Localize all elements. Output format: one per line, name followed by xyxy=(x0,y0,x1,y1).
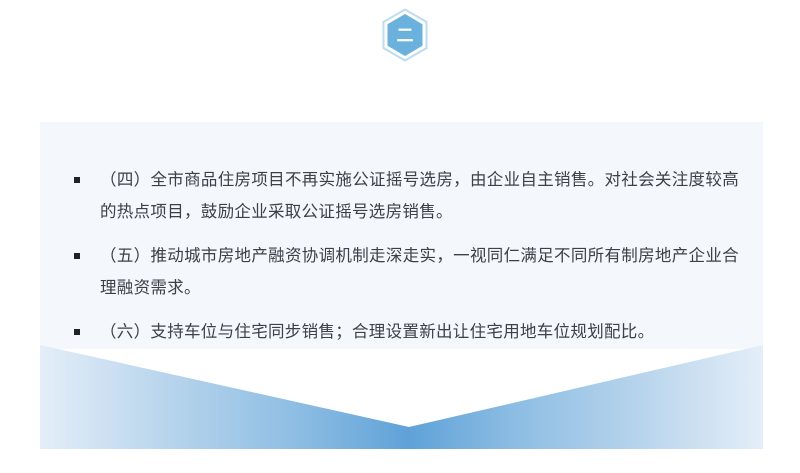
list-item-text: （五）推动城市房地产融资协调机制走深走实，一视同仁满足不同所有制房地产企业合理融… xyxy=(100,247,739,297)
list-item: （六）支持车位与住宅同步销售；合理设置新出让住宅用地车位规划配比。 xyxy=(72,316,739,348)
list-item: （四）全市商品住房项目不再实施公证摇号选房，由企业自主销售。对社会关注度较高的热… xyxy=(72,164,739,228)
infographic-page: 二 优化服务激发活力 （四）全市商品住房项目不再实施公证摇号选房，由企业自主销售… xyxy=(0,0,800,473)
square-bullet-icon xyxy=(74,177,80,183)
content-panel: （四）全市商品住房项目不再实施公证摇号选房，由企业自主销售。对社会关注度较高的热… xyxy=(40,122,763,349)
list-item: （五）推动城市房地产融资协调机制走深走实，一视同仁满足不同所有制房地产企业合理融… xyxy=(72,240,739,304)
section-number-label: 二 xyxy=(381,8,429,62)
bottom-left-wedge-decoration xyxy=(40,345,409,449)
square-bullet-icon xyxy=(74,253,80,259)
list-item-text: （四）全市商品住房项目不再实施公证摇号选房，由企业自主销售。对社会关注度较高的热… xyxy=(100,171,739,221)
bottom-right-wedge-decoration xyxy=(409,345,763,449)
section-title-row: 优化服务激发活力 xyxy=(0,62,800,102)
list-item-text: （六）支持车位与住宅同步销售；合理设置新出让住宅用地车位规划配比。 xyxy=(100,323,654,341)
bullet-list: （四）全市商品住房项目不再实施公证摇号选房，由企业自主销售。对社会关注度较高的热… xyxy=(72,164,739,348)
section-number-badge: 二 xyxy=(381,8,429,62)
square-bullet-icon xyxy=(74,329,80,335)
